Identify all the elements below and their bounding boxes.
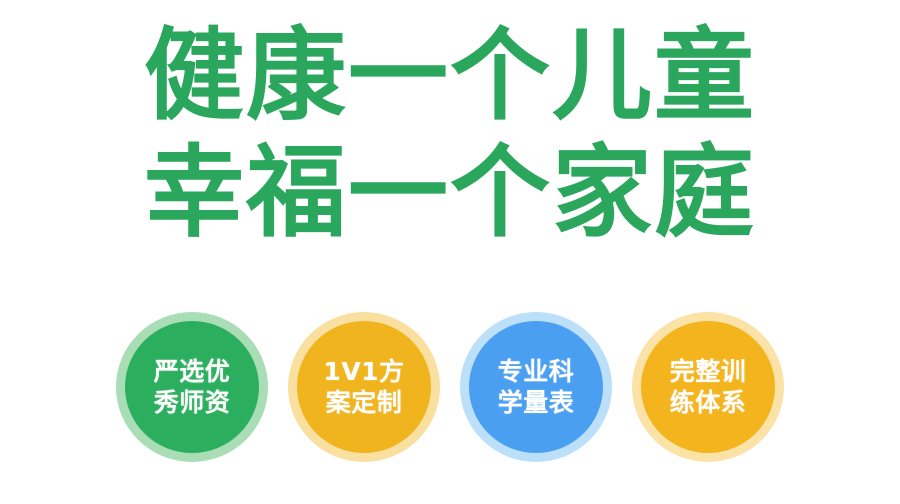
badge-plan[interactable]: 1V1方 案定制 <box>288 312 440 462</box>
headline-line-2: 幸福一个家庭 <box>0 135 900 250</box>
badge-teachers-label-line-1: 严选优 <box>137 356 247 387</box>
badge-training[interactable]: 完整训 练体系 <box>632 312 784 462</box>
badge-scale-label-line-2: 学量表 <box>481 387 591 418</box>
headline-line-1: 健康一个儿童 <box>0 18 900 133</box>
badge-training-label: 完整训 练体系 <box>653 356 763 418</box>
badge-training-label-line-2: 练体系 <box>653 387 763 418</box>
badge-plan-label-line-1: 1V1方 <box>309 356 419 387</box>
headline-block: 健康一个儿童 幸福一个家庭 <box>0 18 900 250</box>
badge-plan-label: 1V1方 案定制 <box>309 356 419 418</box>
badge-teachers-label-line-2: 秀师资 <box>137 387 247 418</box>
badge-scale-label-line-1: 专业科 <box>481 356 591 387</box>
badge-row: 严选优 秀师资 1V1方 案定制 专业科 学量表 完整训 <box>0 312 900 472</box>
badge-teachers-label: 严选优 秀师资 <box>137 356 247 418</box>
badge-training-label-line-1: 完整训 <box>653 356 763 387</box>
poster-root: 健康一个儿童 幸福一个家庭 严选优 秀师资 1V1方 案定制 专业科 学 <box>0 0 900 504</box>
badge-scale-label: 专业科 学量表 <box>481 356 591 418</box>
badge-scale[interactable]: 专业科 学量表 <box>460 312 612 462</box>
badge-plan-label-line-2: 案定制 <box>309 387 419 418</box>
badge-teachers[interactable]: 严选优 秀师资 <box>116 312 268 462</box>
